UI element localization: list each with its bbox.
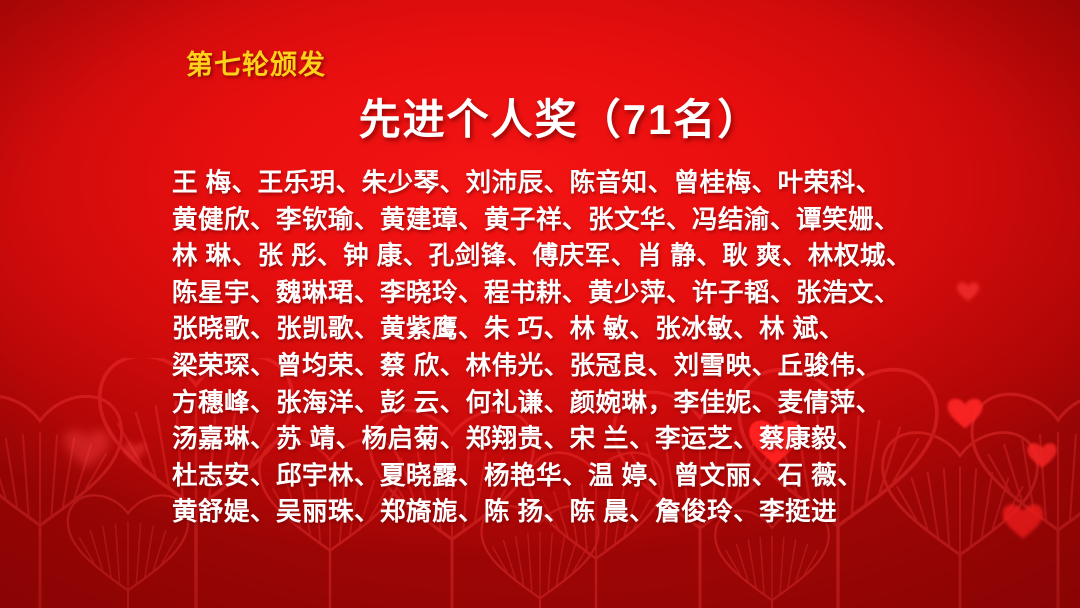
- name-row: 黄舒媞、吴丽珠、郑旖旎、陈 扬、陈 晨、詹俊玲、李挺进: [172, 494, 1020, 531]
- name-row: 林 琳、张 彤、钟 康、孔剑锋、傅庆军、肖 静、耿 爽、林权城、: [172, 238, 1020, 275]
- award-slide: 第七轮颁发 先进个人奖（71名） 王 梅、王乐玥、朱少琴、刘沛辰、陈音知、曾桂梅…: [0, 0, 1080, 608]
- name-row: 杜志安、邱宇林、夏晓露、杨艳华、温 婷、曾文丽、石 薇、: [172, 458, 1020, 495]
- name-row: 方穗峰、张海洋、彭 云、何礼谦、颜婉琳，李佳妮、麦倩萍、: [172, 385, 1020, 422]
- name-row: 梁荣琛、曾均荣、蔡 欣、林伟光、张冠良、刘雪映、丘骏伟、: [172, 348, 1020, 385]
- name-row: 张晓歌、张凯歌、黄紫鹰、朱 巧、林 敏、张冰敏、林 斌、: [172, 311, 1020, 348]
- name-row: 汤嘉琳、苏 靖、杨启菊、郑翔贵、宋 兰、李运芝、蔡康毅、: [172, 421, 1020, 458]
- name-row: 黄健欣、李钦瑜、黄建璋、黄子祥、张文华、冯结渝、谭笑姗、: [172, 202, 1020, 239]
- award-title: 先进个人奖（71名）: [0, 86, 1080, 147]
- slide-content: 第七轮颁发 先进个人奖（71名） 王 梅、王乐玥、朱少琴、刘沛辰、陈音知、曾桂梅…: [0, 0, 1080, 608]
- name-row: 王 梅、王乐玥、朱少琴、刘沛辰、陈音知、曾桂梅、叶荣科、: [172, 165, 1020, 202]
- name-row: 陈星宇、魏琳珺、李晓玲、程书耕、黄少萍、许子韬、张浩文、: [172, 275, 1020, 312]
- round-label: 第七轮颁发: [186, 43, 326, 82]
- awardee-name-list: 王 梅、王乐玥、朱少琴、刘沛辰、陈音知、曾桂梅、叶荣科、 黄健欣、李钦瑜、黄建璋…: [0, 165, 1080, 531]
